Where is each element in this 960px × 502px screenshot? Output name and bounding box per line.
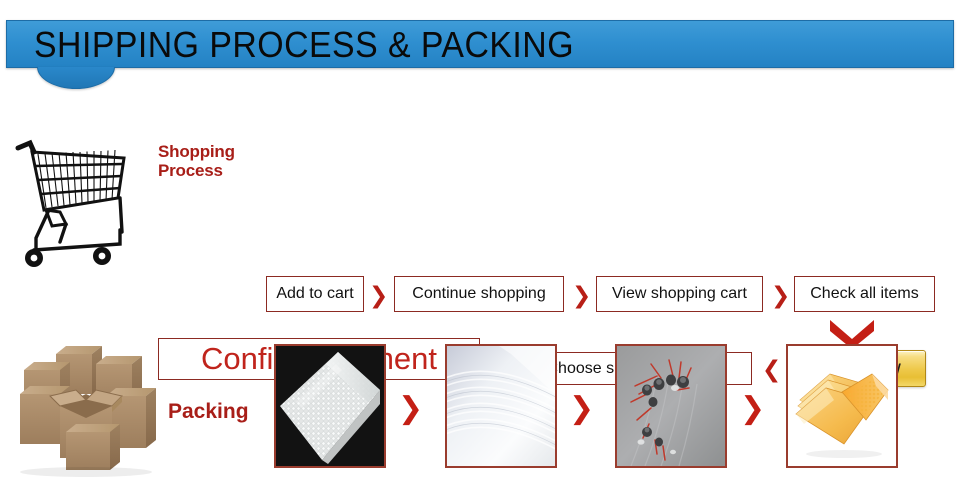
shopping-process-label-line2: Process bbox=[158, 161, 262, 180]
padded-envelopes-photo bbox=[786, 344, 898, 468]
step-view-shopping-cart[interactable]: View shopping cart bbox=[596, 276, 763, 312]
header-banner: SHIPPING PROCESS & PACKING bbox=[0, 20, 960, 76]
bubble-wrap-roll-photo bbox=[274, 344, 386, 468]
packing-label: Packing bbox=[168, 400, 249, 424]
shopping-process-label-line1: Shopping bbox=[158, 142, 262, 161]
plastic-film-photo bbox=[445, 344, 557, 468]
chevron-right-icon-packing-2: ❯ bbox=[569, 394, 594, 424]
chevron-right-icon-packing-1: ❯ bbox=[398, 394, 423, 424]
shopping-cart-icon bbox=[8, 132, 140, 272]
packing-section: Packing ❯ bbox=[0, 332, 960, 492]
shopping-process-label: Shopping Process bbox=[158, 142, 262, 180]
step-add-to-cart[interactable]: Add to cart bbox=[266, 276, 364, 312]
step-check-all-items[interactable]: Check all items bbox=[794, 276, 935, 312]
banner-notch-tab bbox=[37, 67, 115, 89]
shopping-process-section: Shopping Process Add to cart ❯ Continue … bbox=[0, 128, 960, 278]
cardboard-boxes-icon bbox=[10, 338, 160, 478]
packed-items-bag-photo bbox=[615, 344, 727, 468]
chevron-right-icon-3: ❯ bbox=[771, 285, 790, 308]
step-continue-shopping[interactable]: Continue shopping bbox=[394, 276, 564, 312]
chevron-right-icon-packing-3: ❯ bbox=[740, 394, 765, 424]
chevron-right-icon-2: ❯ bbox=[572, 285, 591, 308]
page-title: SHIPPING PROCESS & PACKING bbox=[34, 22, 574, 68]
chevron-right-icon-1: ❯ bbox=[369, 285, 388, 308]
